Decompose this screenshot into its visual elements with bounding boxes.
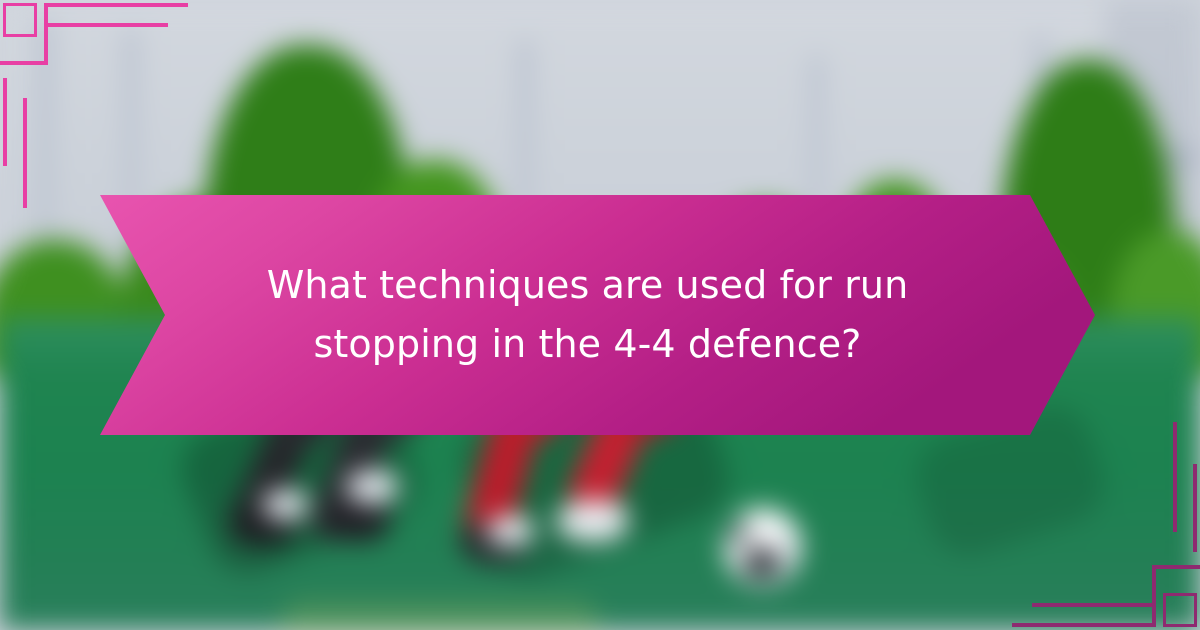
corner-line-h-outer-tl (48, 3, 188, 7)
soccer-ball-panel-1 (744, 548, 780, 578)
corner-line-h-inner-br (1032, 603, 1152, 607)
grass-highlight-1 (280, 600, 600, 630)
question-text: What techniques are used for run stoppin… (100, 195, 1095, 435)
corner-line-h-inner-tl (48, 23, 168, 27)
boot-5 (262, 490, 308, 520)
corner-line-v-outer-tl (3, 78, 7, 166)
corner-elbow-h-tl (0, 61, 48, 65)
corner-bracket-top-left (0, 0, 220, 170)
corner-square-top-left (3, 3, 37, 37)
corner-bracket-bottom-right (980, 460, 1200, 630)
soccer-ball-panel-2 (730, 524, 750, 542)
corner-elbow-v-br (1152, 565, 1156, 627)
corner-elbow-h-br (1152, 565, 1200, 569)
corner-elbow-v-tl (44, 3, 48, 65)
boot-7 (486, 516, 534, 546)
corner-line-v-outer-br (1193, 464, 1197, 552)
corner-square-bottom-right (1163, 593, 1197, 627)
corner-line-h-outer-br (1012, 623, 1152, 627)
corner-line-v-inner-tl (23, 98, 27, 208)
boot-2 (328, 498, 390, 542)
question-banner: What techniques are used for run stoppin… (100, 195, 1095, 435)
boot-4 (556, 500, 628, 542)
corner-line-v-inner-br (1173, 422, 1177, 532)
boot-6 (346, 470, 398, 504)
